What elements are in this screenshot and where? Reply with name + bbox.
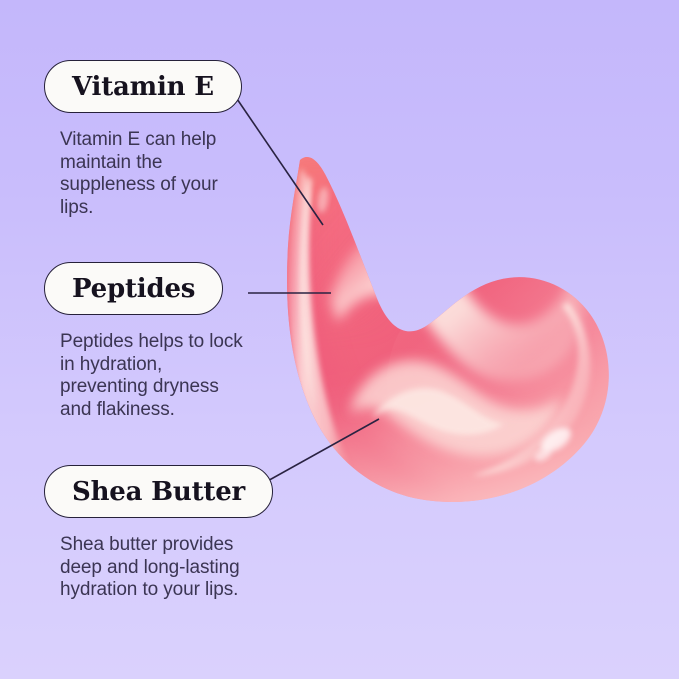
callout-peptides: Peptides Peptides helps to lock in hydra… — [44, 262, 275, 421]
swatch-body — [283, 150, 640, 520]
ingredient-description-vitamin-e: Vitamin E can help maintain the supplene… — [60, 129, 275, 219]
ingredient-description-shea-butter: Shea butter provides deep and long-lasti… — [60, 534, 280, 602]
ingredient-description-peptides: Peptides helps to lock in hydration, pre… — [60, 331, 275, 421]
infographic-canvas: Vitamin E Vitamin E can help maintain th… — [0, 0, 679, 679]
ingredient-pill-peptides[interactable]: Peptides — [44, 262, 223, 315]
ingredient-title-peptides: Peptides — [72, 276, 195, 302]
ingredient-title-shea-butter: Shea Butter — [72, 479, 245, 505]
ingredient-title-vitamin-e: Vitamin E — [72, 74, 214, 100]
callout-vitamin-e: Vitamin E Vitamin E can help maintain th… — [44, 60, 275, 219]
ingredient-pill-vitamin-e[interactable]: Vitamin E — [44, 60, 242, 113]
callout-shea-butter: Shea Butter Shea butter provides deep an… — [44, 465, 280, 602]
ingredient-pill-shea-butter[interactable]: Shea Butter — [44, 465, 273, 518]
